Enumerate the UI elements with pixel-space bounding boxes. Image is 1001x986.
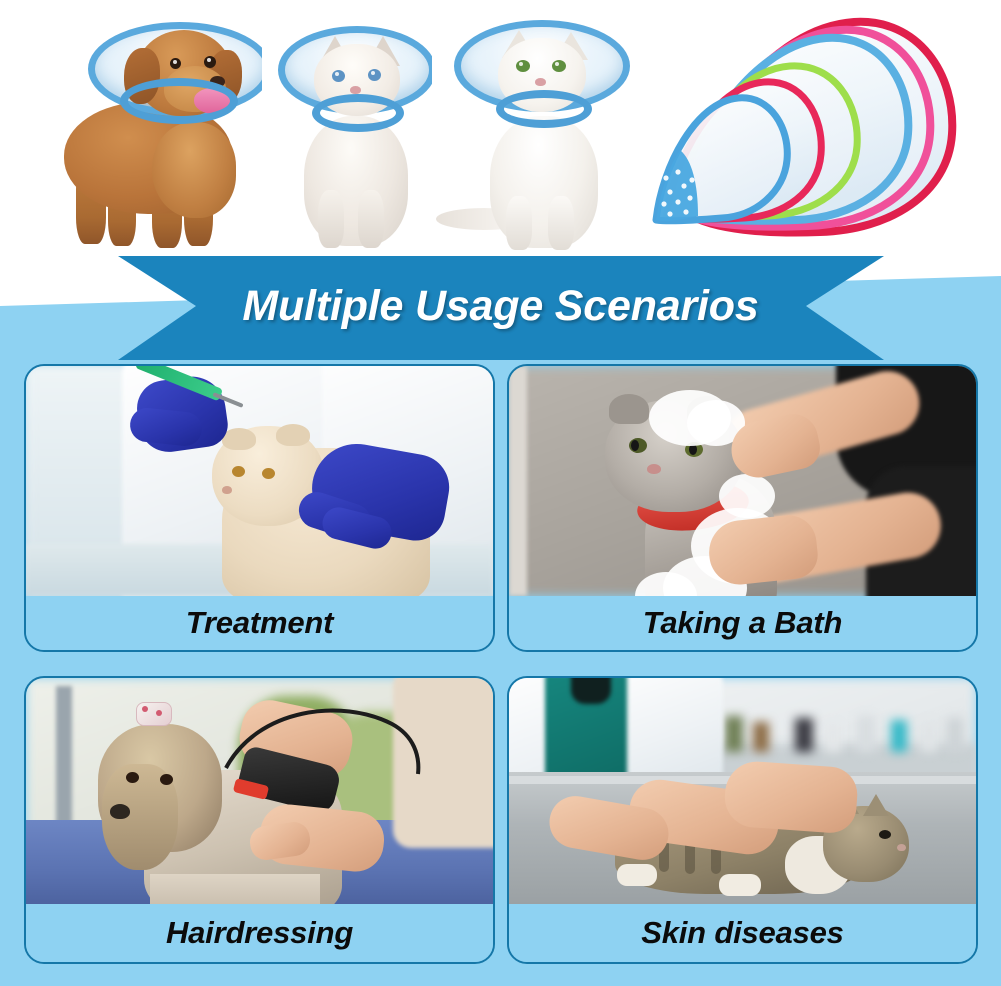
treatment-photo — [26, 366, 493, 596]
banner-ribbon: Multiple Usage Scenarios — [0, 248, 1001, 370]
hero-item-dog-in-cone — [48, 6, 280, 256]
hero-item-kitten-in-cone — [262, 12, 452, 252]
panel-hairdressing[interactable]: Hairdressing — [24, 676, 495, 964]
ribbon-shape — [0, 248, 1001, 370]
panel-taking-a-bath[interactable]: Taking a Bath — [507, 364, 978, 652]
panel-treatment[interactable]: Treatment — [24, 364, 495, 652]
panel-label-hairdressing: Hairdressing — [26, 904, 493, 962]
taking-a-bath-photo — [509, 366, 976, 596]
skin-diseases-photo — [509, 678, 976, 904]
hero-item-cone-size-stack — [640, 8, 990, 244]
cone-stack-illustration — [640, 8, 990, 244]
scenario-grid: Treatment — [24, 364, 978, 964]
infographic-page: Multiple Usage Scenarios — [0, 0, 1001, 986]
panel-label-taking-a-bath: Taking a Bath — [509, 596, 976, 650]
hero-photo-strip — [0, 0, 1001, 262]
panel-skin-diseases[interactable]: Skin diseases — [507, 676, 978, 964]
hairdressing-photo — [26, 678, 493, 904]
panel-label-treatment: Treatment — [26, 596, 493, 650]
panel-label-skin-diseases: Skin diseases — [509, 904, 976, 962]
hero-item-white-cat-in-cone — [432, 10, 644, 254]
hair-bow — [136, 702, 172, 726]
